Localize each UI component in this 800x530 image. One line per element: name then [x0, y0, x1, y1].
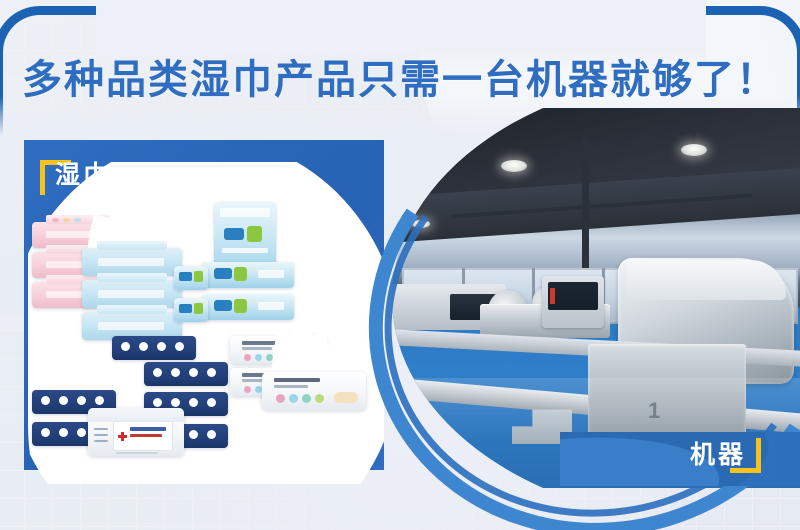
- product-pack-lightblue: [82, 280, 182, 308]
- product-pack-navy: [144, 362, 228, 386]
- product-pack-lightblue: [82, 248, 182, 276]
- product-pack-disinfect-front: [88, 408, 184, 456]
- product-pack-kitchen-front: [262, 372, 366, 410]
- product-pack-toilet-small: [174, 298, 208, 322]
- label-machine: 机器: [690, 438, 761, 470]
- product-pack-navy: [112, 336, 196, 360]
- product-pack-toilet: [202, 262, 294, 288]
- product-collection: [24, 140, 396, 484]
- right-label-panel: [560, 432, 800, 486]
- corner-bracket-icon: [730, 438, 761, 473]
- red-cross-icon: [118, 432, 127, 441]
- banner-root: 多种品类湿巾产品只需一台机器就够了！ 湿巾: [0, 0, 800, 530]
- product-pack-toilet: [202, 294, 294, 320]
- product-pack-toilet-small: [174, 266, 208, 290]
- tissue-sheet: [58, 348, 116, 388]
- page-title: 多种品类湿巾产品只需一台机器就够了！: [0, 47, 800, 105]
